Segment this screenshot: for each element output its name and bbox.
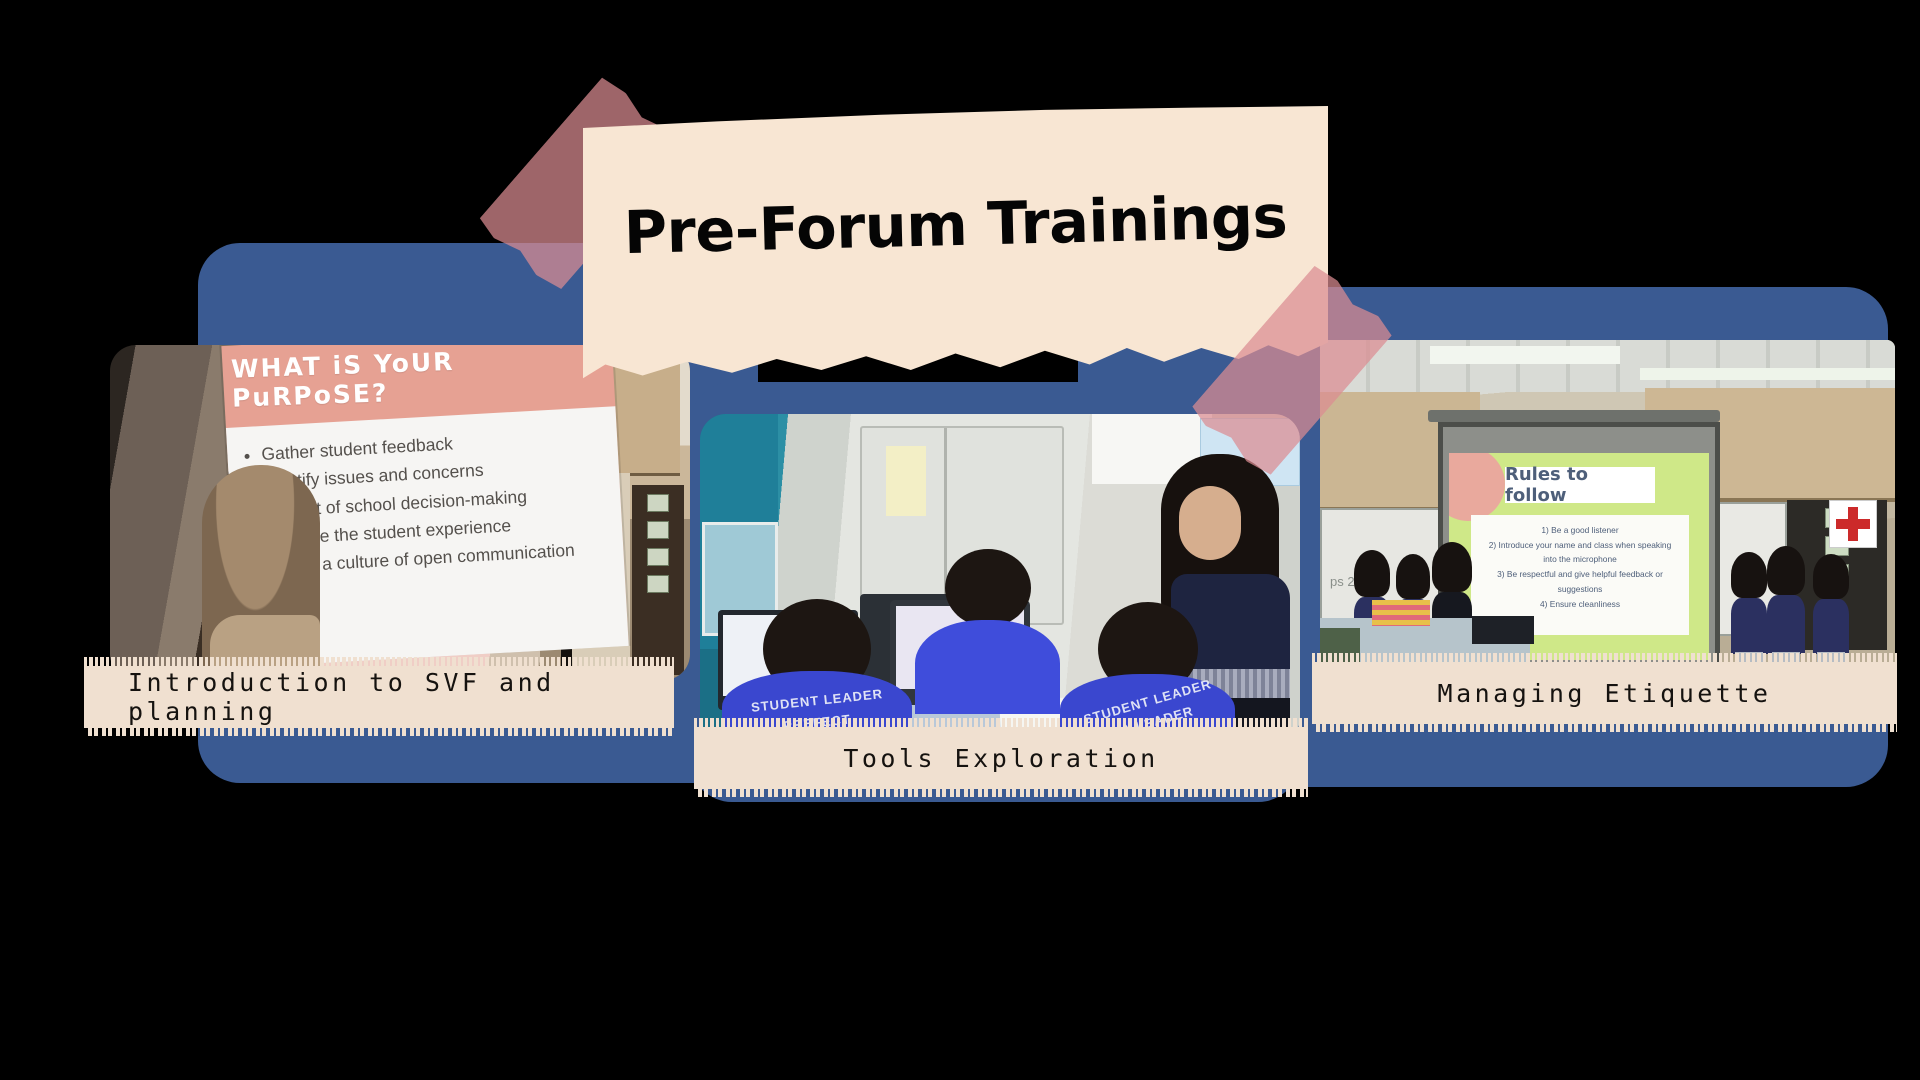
photo-etiquette-scene: Rules to follow 1) Be a good listener 2)… (1320, 340, 1895, 670)
slide-canvas: WHAT iS YoUR PuRPoSE? Gather student fee… (0, 0, 1920, 1080)
photo-etiquette[interactable]: Rules to follow 1) Be a good listener 2)… (1320, 340, 1895, 670)
page-title: Pre-Forum Trainings (582, 181, 1328, 268)
stacked-boxes (1372, 600, 1430, 626)
ceiling-lights (1320, 340, 1895, 392)
caption-introduction: Introduction to SVF and planning (84, 666, 674, 728)
first-aid-icon (1829, 500, 1877, 548)
presenter-figure (202, 465, 320, 680)
title-banner: Pre-Forum Trainings (583, 106, 1328, 381)
notice-board (632, 485, 684, 675)
student-figure (1731, 552, 1767, 654)
slide-rule: 3) Be respectful and give helpful feedba… (1481, 567, 1679, 596)
photo-introduction[interactable]: WHAT iS YoUR PuRPoSE? Gather student fee… (110, 345, 690, 680)
projector-screen-roller (1428, 410, 1720, 422)
laptop (1472, 616, 1534, 644)
caption-tools: Tools Exploration (694, 727, 1308, 789)
student-figure (1813, 554, 1849, 654)
slide-rule: 2) Introduce your name and class when sp… (1481, 538, 1679, 567)
student-figure-center (915, 549, 1060, 714)
photo-tools[interactable]: STUDENT LEADER PREFECT STUDENT LEADER CC… (700, 414, 1300, 744)
caption-text: Tools Exploration (694, 744, 1308, 773)
photo-tools-scene: STUDENT LEADER PREFECT STUDENT LEADER CC… (700, 414, 1300, 744)
slide-rule: 1) Be a good listener (1481, 523, 1679, 538)
photo-introduction-scene: WHAT iS YoUR PuRPoSE? Gather student fee… (110, 345, 690, 680)
slide-heading: WHAT iS YoUR PuRPoSE? (231, 345, 605, 413)
caption-text: Introduction to SVF and planning (128, 668, 674, 726)
caption-etiquette: Managing Etiquette (1312, 662, 1897, 724)
caption-text: Managing Etiquette (1312, 679, 1897, 708)
slide-heading: Rules to follow (1505, 467, 1655, 503)
student-figure (1767, 546, 1805, 654)
slide-decor-circle (1449, 453, 1505, 521)
slide-rule: 4) Ensure cleanliness (1481, 597, 1679, 612)
